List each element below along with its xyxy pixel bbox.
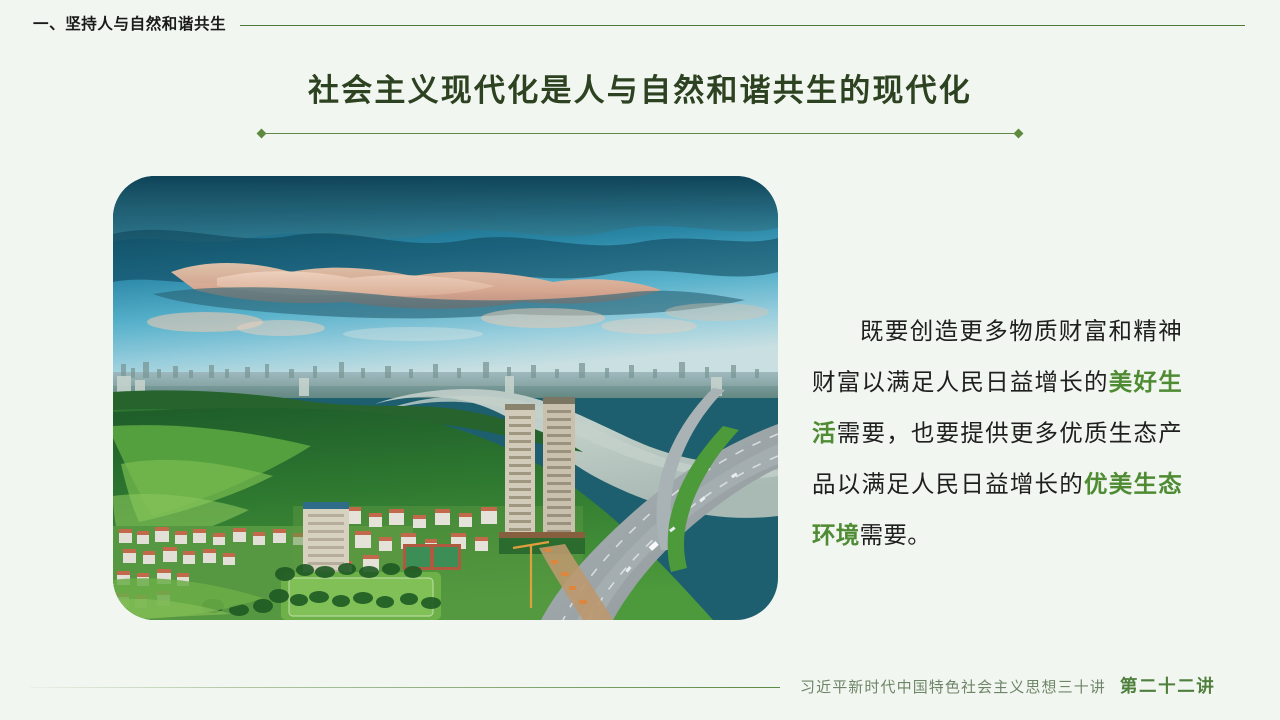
body-paragraph: 既要创造更多物质财富和精神财富以满足人民日益增长的美好生活需要，也要提供更多优质… (812, 306, 1182, 561)
section-header-rule (240, 25, 1245, 26)
footer-series-title: 习近平新时代中国特色社会主义思想三十讲 (800, 676, 1106, 697)
footer-rule (30, 687, 780, 688)
title-underline-line (262, 133, 1018, 134)
body-segment-3: 需要。 (860, 522, 931, 548)
title-underline-decoration (258, 129, 1022, 137)
photo-canvas (113, 176, 778, 620)
footer-lecture-number: 第二十二讲 (1120, 673, 1216, 698)
section-header-label: 一、坚持人与自然和谐共生 (33, 17, 226, 33)
slide-root: 一、坚持人与自然和谐共生 社会主义现代化是人与自然和谐共生的现代化 (0, 0, 1280, 720)
title-block: 社会主义现代化是人与自然和谐共生的现代化 (0, 72, 1280, 109)
footer-text-group: 习近平新时代中国特色社会主义思想三十讲 第二十二讲 (800, 673, 1215, 698)
page-title: 社会主义现代化是人与自然和谐共生的现代化 (0, 72, 1280, 109)
section-header: 一、坚持人与自然和谐共生 (33, 17, 1245, 33)
diamond-right-icon (1014, 128, 1024, 138)
aerial-cityscape-river-photo (113, 176, 778, 620)
slide-footer: 习近平新时代中国特色社会主义思想三十讲 第二十二讲 (0, 683, 1280, 720)
